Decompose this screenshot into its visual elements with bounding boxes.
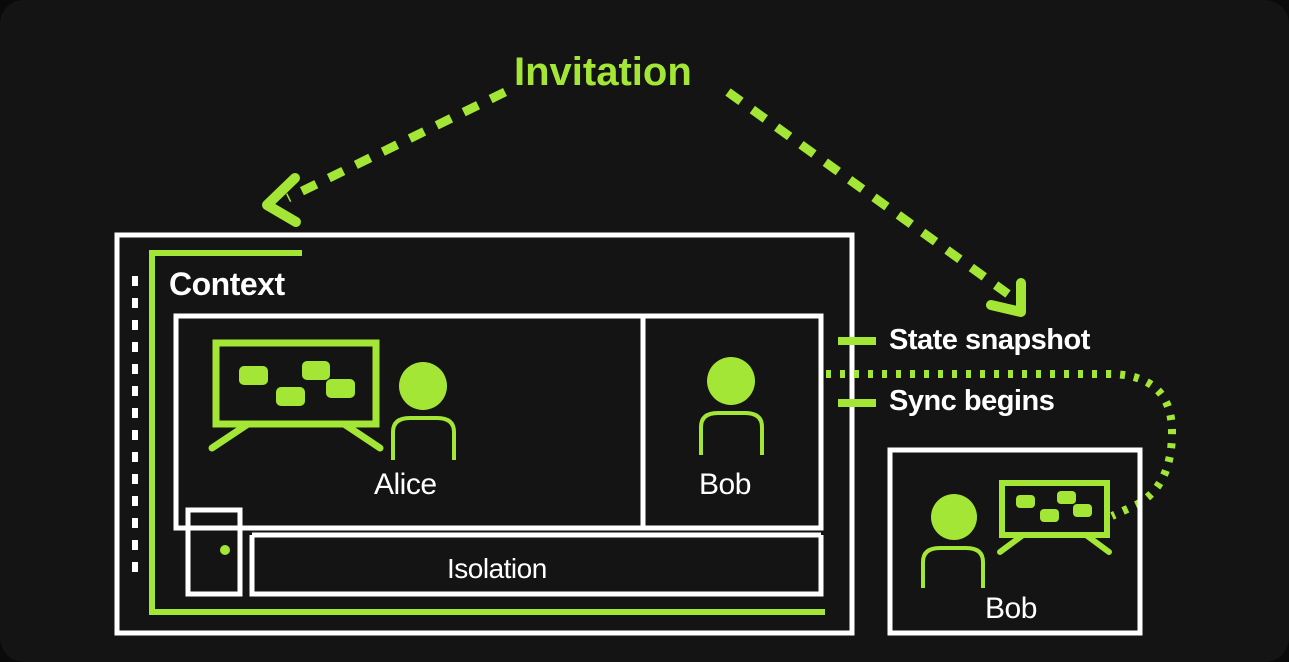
sticky-note — [326, 379, 355, 398]
participant-label-bob-local: Bob — [699, 468, 751, 502]
participant-label-alice: Alice — [374, 468, 437, 502]
sticky-note — [1040, 509, 1059, 522]
sticky-note — [239, 366, 268, 385]
whiteboard-icon-bob-remote — [1000, 483, 1109, 552]
sticky-note — [1057, 491, 1076, 504]
sticky-note — [302, 361, 330, 380]
person-icon-bob-local — [701, 357, 762, 455]
invitation-arrow-left — [267, 92, 505, 222]
person-icon-alice — [393, 362, 454, 460]
door-icon — [188, 510, 240, 594]
diagram-canvas: Invitation Context Alice Bob Isolation B… — [0, 0, 1289, 662]
participant-label-bob-remote: Bob — [985, 592, 1037, 626]
sticky-note — [1016, 495, 1035, 508]
legend-label-sync-begins: Sync begins — [889, 385, 1054, 418]
sticky-note — [1073, 504, 1092, 517]
invitation-arrow-right — [728, 92, 1021, 312]
legend-label-state-snapshot: State snapshot — [889, 324, 1090, 357]
isolation-label: Isolation — [447, 553, 547, 585]
page-title: Invitation — [514, 50, 692, 95]
sticky-note — [276, 387, 305, 406]
whiteboard-icon-alice — [212, 343, 380, 448]
person-icon-bob-remote — [923, 494, 983, 588]
context-label: Context — [169, 266, 285, 303]
diagram-vector-layer — [0, 0, 1289, 662]
